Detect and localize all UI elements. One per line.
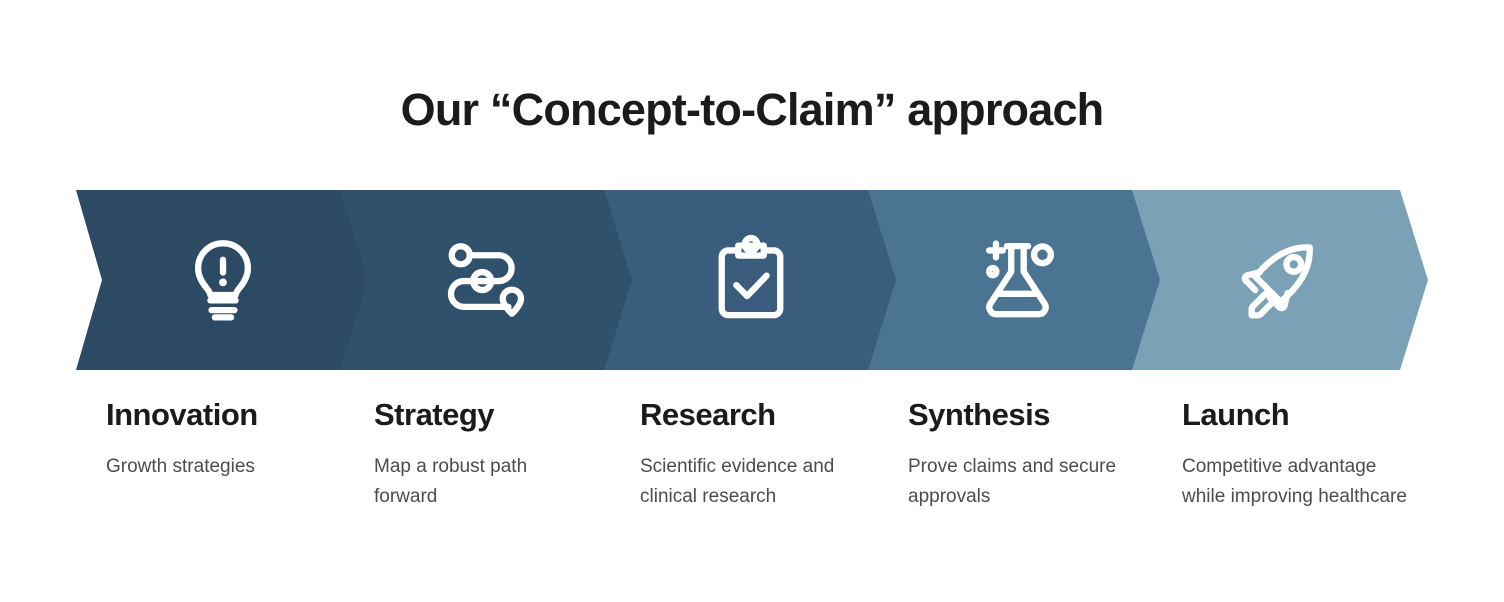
chevron-shape-4 (868, 190, 1162, 370)
caption-heading-research: Research (640, 396, 885, 434)
caption-description-launch: Competitive advantage while improving he… (1182, 452, 1422, 512)
process-step-synthesis[interactable] (868, 190, 1162, 370)
step-captions: Innovation Growth strategies Strategy Ma… (0, 396, 1504, 596)
chevron-shape-2 (340, 190, 634, 370)
caption-description-innovation: Growth strategies (106, 452, 356, 482)
process-step-strategy[interactable] (340, 190, 634, 370)
caption-description-strategy: Map a robust path forward (374, 452, 594, 512)
caption-innovation: Innovation Growth strategies (106, 396, 356, 482)
process-step-research[interactable] (604, 190, 898, 370)
page-title: Our “Concept-to-Claim” approach (0, 82, 1504, 138)
process-step-launch[interactable] (1132, 190, 1428, 370)
chevron-shape-3 (604, 190, 898, 370)
caption-strategy: Strategy Map a robust path forward (374, 396, 594, 512)
caption-heading-innovation: Innovation (106, 396, 356, 434)
chevron-shape-1 (76, 190, 370, 370)
process-step-innovation[interactable] (76, 190, 370, 370)
caption-description-synthesis: Prove claims and secure approvals (908, 452, 1120, 512)
chevron-shape-5 (1132, 190, 1428, 370)
caption-research: Research Scientific evidence and clinica… (640, 396, 885, 512)
caption-description-research: Scientific evidence and clinical researc… (640, 452, 885, 512)
caption-heading-strategy: Strategy (374, 396, 594, 434)
caption-heading-launch: Launch (1182, 396, 1422, 434)
process-chevron-band (0, 190, 1504, 370)
caption-synthesis: Synthesis Prove claims and secure approv… (908, 396, 1120, 512)
caption-launch: Launch Competitive advantage while impro… (1182, 396, 1422, 512)
infographic-page: Our “Concept-to-Claim” approach (0, 0, 1504, 602)
caption-heading-synthesis: Synthesis (908, 396, 1120, 434)
